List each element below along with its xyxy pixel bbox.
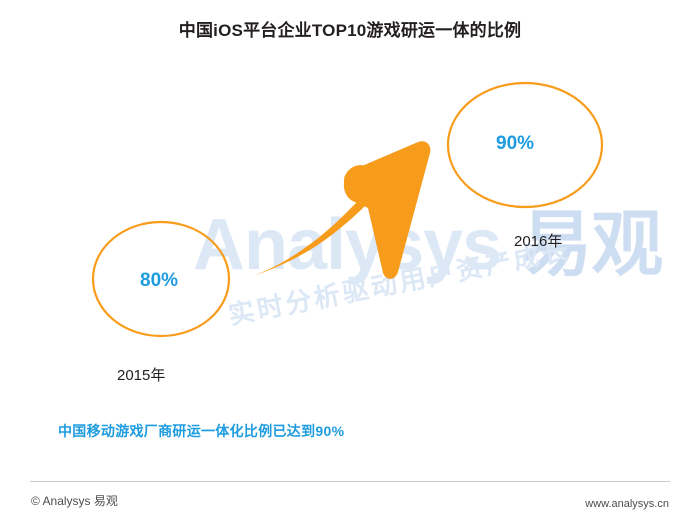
bubble-value-2016: 90% — [496, 133, 534, 155]
bubble-value-2015: 80% — [140, 270, 178, 292]
chart-caption: 中国移动游戏厂商研运一体化比例已达到90% — [58, 421, 344, 441]
footer-divider — [30, 481, 670, 482]
growth-arrow-icon — [250, 141, 430, 279]
chart-plot-area — [0, 0, 700, 525]
footer-copyright: © Analysys 易观 — [31, 492, 118, 509]
category-label-2015: 2015年 — [117, 364, 165, 385]
footer-website: www.analysys.cn — [585, 498, 669, 510]
category-label-2016: 2016年 — [514, 230, 562, 251]
